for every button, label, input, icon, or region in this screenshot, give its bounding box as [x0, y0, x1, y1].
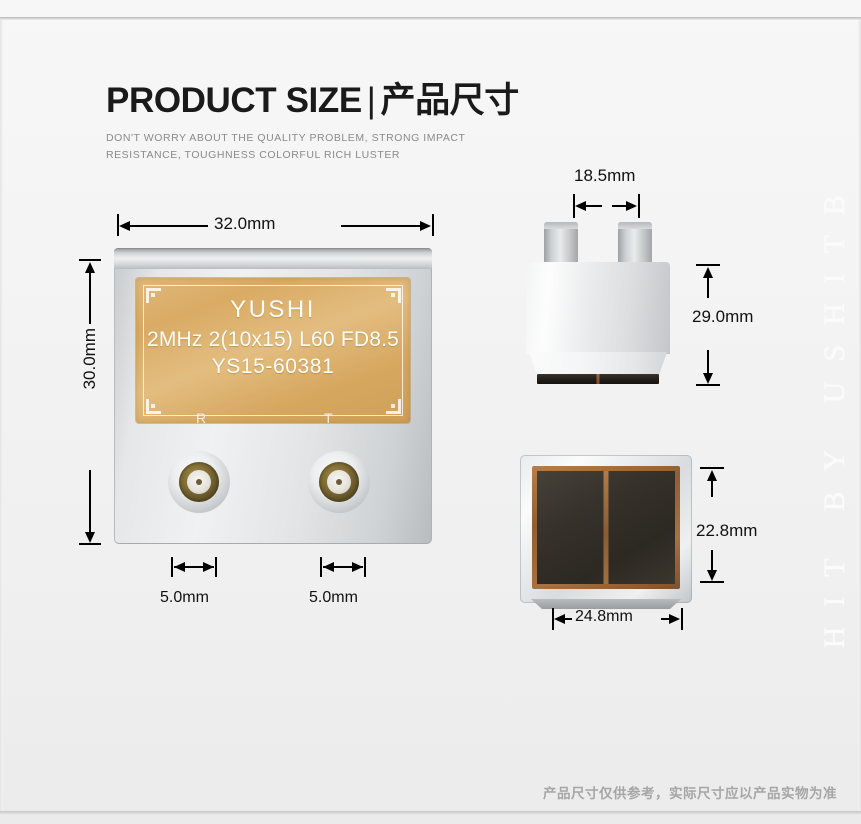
dim-arrow-down — [707, 570, 717, 581]
side-connector-right — [618, 222, 652, 264]
dim-line-bottom — [89, 470, 91, 538]
coax-socket-r — [168, 451, 230, 513]
bottom-view-divider — [604, 471, 609, 584]
dim-arrow-right — [669, 614, 680, 624]
label-port-t: T — [324, 410, 333, 423]
dim-line-top — [89, 266, 91, 324]
dim-socket-right-label: 5.0mm — [309, 589, 358, 607]
label-serial: YS15-60381 — [136, 355, 410, 379]
front-view: YUSHI 2MHz 2(10x15) L60 FD8.5 YS15-60381… — [114, 248, 432, 544]
side-connector-left — [544, 222, 578, 264]
label-brand: YUSHI — [136, 296, 410, 324]
dim-socket-left-label: 5.0mm — [160, 589, 209, 607]
page-title-cn: 产品尺寸 — [380, 81, 518, 120]
dim-arrow-right — [626, 201, 637, 211]
body-top-edge — [114, 248, 432, 270]
left-edge-frame — [0, 20, 3, 810]
side-body — [526, 262, 670, 354]
page-header: PRODUCT SIZE|产品尺寸 DON'T WORRY ABOUT THE … — [106, 82, 526, 164]
page-title-separator: | — [367, 81, 376, 120]
dim-side-height-label: 29.0mm — [692, 307, 753, 327]
dim-line-left — [123, 225, 208, 227]
dim-tick-left — [171, 557, 173, 577]
product-label-plate: YUSHI 2MHz 2(10x15) L60 FD8.5 YS15-60381… — [136, 278, 410, 423]
dim-tick-top — [700, 467, 724, 469]
dim-arrow-up — [707, 470, 717, 481]
footer-disclaimer: 产品尺寸仅供参考，实际尺寸应以产品实物为准 — [543, 782, 837, 802]
side-transducer-divider — [597, 374, 600, 384]
dim-bottom-width-label: 24.8mm — [575, 608, 633, 626]
label-ornament-dot-bl — [151, 404, 155, 408]
dim-tick-right — [364, 557, 366, 577]
bottom-view-bezel — [532, 466, 680, 589]
dim-arrow-down — [85, 532, 95, 543]
dim-arrow-left — [323, 562, 334, 572]
page-title: PRODUCT SIZE|产品尺寸 — [106, 82, 526, 121]
dim-arrow-right — [420, 221, 431, 231]
dim-bottom-height-label: 22.8mm — [696, 521, 757, 541]
side-skirt — [529, 352, 667, 376]
dim-tick-bottom — [696, 384, 720, 386]
dim-tick-bottom — [700, 581, 724, 583]
bottom-view-transducer-face — [537, 471, 675, 584]
dim-arrow-right — [203, 562, 214, 572]
label-spec: 2MHz 2(10x15) L60 FD8.5 — [136, 328, 410, 352]
top-divider — [0, 17, 861, 20]
side-view — [526, 222, 686, 387]
socket-center-pin — [336, 479, 342, 485]
dim-arrow-right — [352, 562, 363, 572]
coax-socket-t — [308, 451, 370, 513]
dim-arrow-left — [119, 221, 130, 231]
label-ornament-dot-br — [391, 404, 395, 408]
label-text-block: YUSHI 2MHz 2(10x15) L60 FD8.5 YS15-60381 — [136, 296, 410, 379]
dim-tick-left — [320, 557, 322, 577]
dim-arrow-left — [575, 201, 586, 211]
page-subtitle: DON'T WORRY ABOUT THE QUALITY PROBLEM, S… — [106, 130, 526, 165]
dim-tick-right — [681, 608, 683, 630]
dim-front-width-label: 32.0mm — [214, 214, 275, 234]
dim-tick-bottom — [79, 543, 101, 545]
socket-center-pin — [196, 479, 202, 485]
dim-tick-right — [215, 557, 217, 577]
dim-front-height-label: 30.0mm — [80, 328, 100, 389]
dim-tick-top — [696, 264, 720, 266]
page-title-en: PRODUCT SIZE — [106, 81, 362, 120]
dim-arrow-left — [174, 562, 185, 572]
bottom-view — [520, 455, 692, 603]
bottom-divider — [0, 811, 861, 815]
dim-arrow-left — [554, 614, 565, 624]
dim-line-left — [586, 205, 602, 207]
dim-arrow-up — [703, 267, 713, 278]
dim-tick-right — [432, 214, 434, 236]
dim-arrow-up — [85, 262, 95, 273]
label-port-r: R — [196, 410, 206, 423]
side-transducer-strip — [537, 374, 659, 384]
dim-tick-right — [638, 194, 640, 218]
dim-arrow-down — [703, 373, 713, 384]
dim-side-top-width-label: 18.5mm — [574, 166, 635, 186]
dim-line-right — [341, 225, 427, 227]
dim-tick-top — [79, 259, 101, 261]
